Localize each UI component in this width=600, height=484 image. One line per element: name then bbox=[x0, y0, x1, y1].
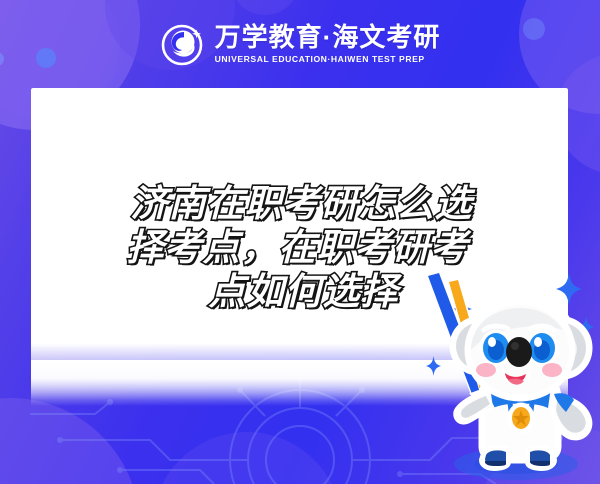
decor-bubble bbox=[0, 398, 140, 484]
header-banner: 万学教育·海文考研 UNIVERSAL EDUCATION·HAIWEN TES… bbox=[0, 0, 600, 88]
brand-logo[interactable]: 万学教育·海文考研 UNIVERSAL EDUCATION·HAIWEN TES… bbox=[160, 21, 441, 67]
poster-root: 万学教育·海文考研 UNIVERSAL EDUCATION·HAIWEN TES… bbox=[0, 0, 600, 484]
brand-title-cn: 万学教育·海文考研 bbox=[215, 24, 441, 51]
headline-line-1: 济南在职考研怎么选 bbox=[35, 182, 568, 226]
haiwen-swirl-logo-icon bbox=[160, 21, 206, 67]
koala-mascot bbox=[420, 268, 600, 484]
brand-subtitle-en: UNIVERSAL EDUCATION·HAIWEN TEST PREP bbox=[215, 54, 441, 64]
headline-line-2: 择考点，在职考研考 bbox=[27, 226, 568, 270]
decor-bubble bbox=[152, 432, 342, 484]
